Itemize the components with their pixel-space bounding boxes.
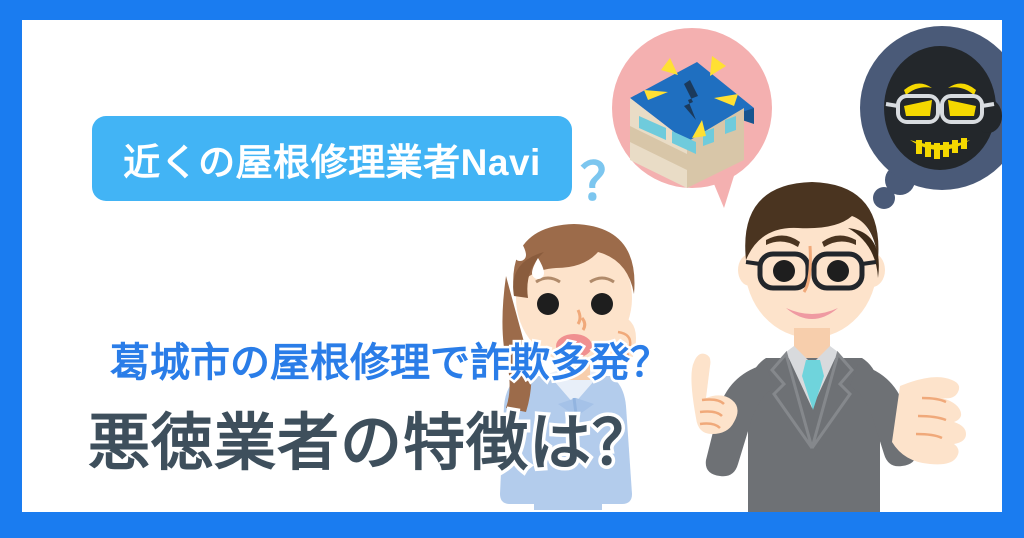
headline-text: 悪徳業者の特徴は？ — [88, 392, 655, 482]
subtitle-text: 葛城市の屋根修理で詐欺多発？ — [110, 330, 670, 388]
site-name-badge-label: 近くの屋根修理業者Navi — [123, 132, 541, 186]
banner-image: 近くの屋根修理業者Navi ？ 葛城市の屋根修理で詐欺多発？ 悪徳業者の特徴は？ — [0, 0, 1024, 538]
site-name-badge[interactable]: 近くの屋根修理業者Navi — [92, 116, 572, 201]
question-mark-decoration: ？ — [580, 140, 632, 215]
explaining-businessman-illustration — [660, 168, 970, 512]
banner-canvas: 近くの屋根修理業者Navi ？ 葛城市の屋根修理で詐欺多発？ 悪徳業者の特徴は？ — [22, 20, 1002, 512]
